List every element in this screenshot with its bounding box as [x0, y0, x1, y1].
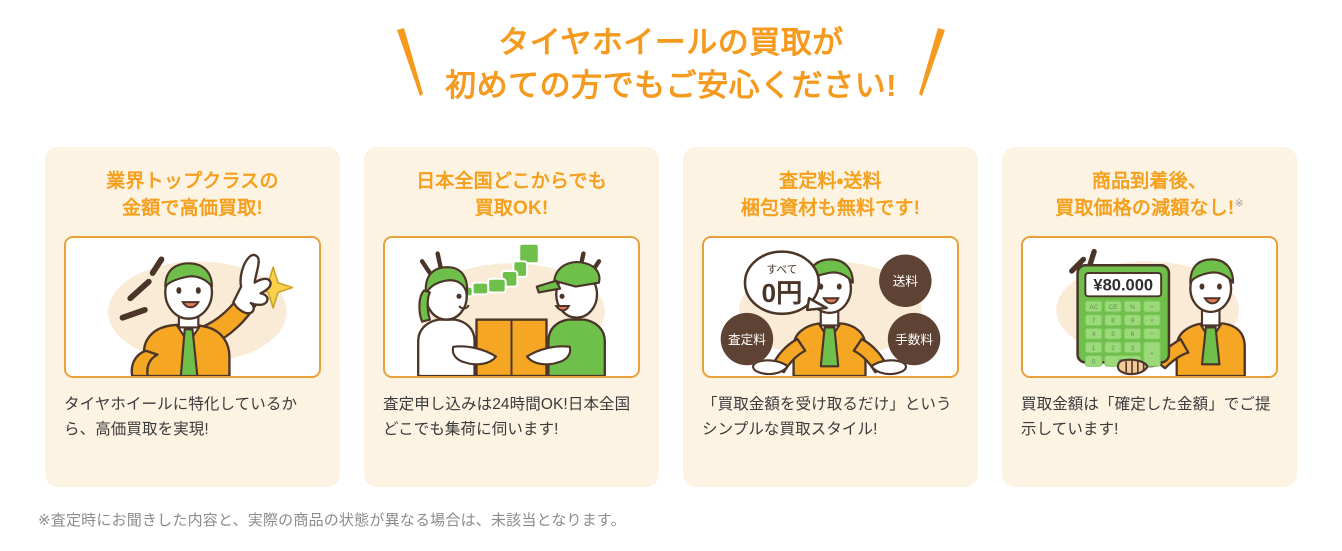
card-body-text: 査定申し込みは24時間OK!日本全国どこでも集荷に伺います!: [383, 392, 640, 443]
card-title: 日本全国どこからでも 買取OK!: [383, 169, 640, 223]
card-title-line-1: 業界トップクラスの: [106, 171, 278, 192]
promo-section: タイヤホイールの買取が 初めての方でもご安心ください! 業界トップクラスの 金額…: [0, 0, 1342, 551]
bubble-small-label: すべて: [766, 264, 797, 276]
card-title-line-1: 商品到着後、: [1092, 171, 1207, 192]
svg-text:+: +: [1150, 351, 1154, 358]
svg-text:AC: AC: [1089, 304, 1098, 311]
svg-text:0: 0: [1092, 358, 1096, 365]
card-title-line-2: 買取OK!: [475, 198, 549, 219]
card-body-text: タイヤホイールに特化しているから、高価買取を実現!: [64, 392, 321, 443]
card-title-footnote-mark: ※: [1234, 198, 1243, 210]
card-body-text: 買取金額は「確定した金額」でご提示しています!: [1021, 392, 1278, 443]
page-title: タイヤホイールの買取が 初めての方でもご安心ください!: [445, 22, 897, 108]
headline-block: タイヤホイールの買取が 初めての方でもご安心ください!: [0, 22, 1342, 108]
svg-text:8: 8: [1111, 317, 1115, 324]
svg-text:−: −: [1150, 331, 1154, 338]
headline-line-2: 初めての方でもご安心ください!: [445, 65, 897, 108]
svg-text:CE: CE: [1109, 304, 1118, 311]
benefit-card-list: 業界トップクラスの 金額で高価買取!: [45, 147, 1297, 487]
benefit-card-3: 査定料・送料 梱包資材も無料です!: [683, 147, 978, 487]
svg-text:4: 4: [1092, 331, 1096, 338]
svg-text:7: 7: [1092, 317, 1096, 324]
card-title-line-2: 金額で高価買取!: [122, 198, 263, 219]
card-title: 商品到着後、 買取価格の減額なし!※: [1021, 169, 1278, 223]
svg-text:5: 5: [1111, 331, 1115, 338]
slash-left-icon: [393, 22, 427, 107]
card-title-line-1: 日本全国どこからでも: [416, 171, 607, 192]
man-with-calculator-illustration: ¥80.000 ACCE%÷: [1023, 238, 1276, 376]
svg-text:3: 3: [1131, 345, 1135, 352]
man-pointing-up-with-sparkle-illustration: [66, 238, 319, 376]
badge-fee-label: 手数料: [895, 333, 933, 347]
man-with-zero-yen-bubble-illustration: すべて 0円 送料 査定料 手数料: [704, 238, 957, 376]
card-illustration-frame: すべて 0円 送料 査定料 手数料: [702, 236, 959, 378]
card-body-text: 「買取金額を受け取るだけ」というシンプルな買取スタイル!: [702, 392, 959, 443]
calculator-display: ¥80.000: [1093, 275, 1153, 294]
handover-box-with-japan-map-illustration: [385, 238, 638, 376]
svg-text:×: ×: [1150, 317, 1154, 324]
card-title-line-2: 梱包資材も無料です!: [741, 198, 920, 219]
svg-text:÷: ÷: [1150, 304, 1154, 311]
svg-text:%: %: [1130, 304, 1136, 311]
svg-text:6: 6: [1131, 331, 1135, 338]
card-title-line-2: 買取価格の減額なし!: [1055, 198, 1234, 219]
footnote-text: ※査定時にお聞きした内容と、実際の商品の状態が異なる場合は、未該当となります。: [38, 509, 626, 530]
benefit-card-2: 日本全国どこからでも 買取OK!: [364, 147, 659, 487]
benefit-card-4: 商品到着後、 買取価格の減額なし!※: [1002, 147, 1297, 487]
card-title-line-1: 査定料・送料: [779, 171, 882, 192]
svg-text:1: 1: [1092, 345, 1096, 352]
benefit-card-1: 業界トップクラスの 金額で高価買取!: [45, 147, 340, 487]
badge-appraisal-label: 査定料: [728, 333, 766, 347]
card-illustration-frame: ¥80.000 ACCE%÷: [1021, 236, 1278, 378]
svg-text:9: 9: [1131, 317, 1135, 324]
badge-shipping-label: 送料: [893, 275, 919, 289]
bubble-big-label: 0円: [762, 278, 803, 308]
slash-right-icon: [915, 22, 949, 107]
card-title: 査定料・送料 梱包資材も無料です!: [702, 169, 959, 223]
card-illustration-frame: [383, 236, 640, 378]
headline-line-1: タイヤホイールの買取が: [498, 25, 844, 60]
card-title: 業界トップクラスの 金額で高価買取!: [64, 169, 321, 223]
svg-text:2: 2: [1111, 345, 1115, 352]
card-illustration-frame: [64, 236, 321, 378]
